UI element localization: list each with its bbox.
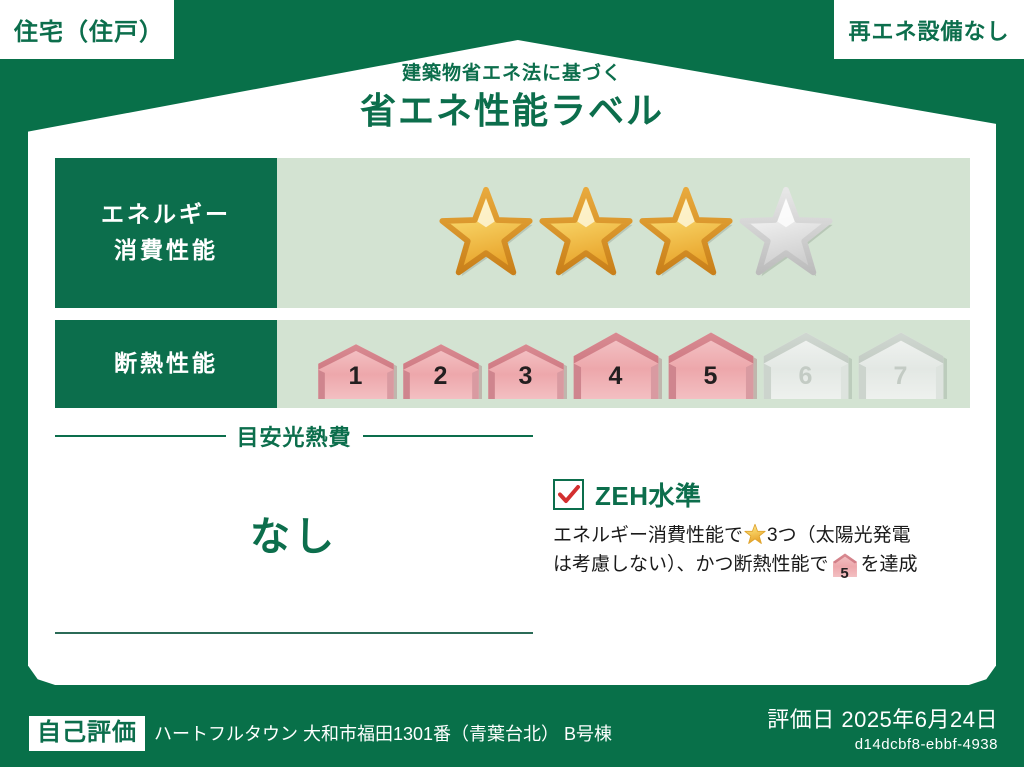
energy-performance-label: 住宅（住戸） 再エネ設備なし 建築物省エネ法に基づく 省エネ性能ラベル エネルギ… <box>0 0 1024 767</box>
insulation-level-2: 2 <box>400 343 482 399</box>
building-type-tag: 住宅（住戸） <box>0 0 174 59</box>
building-type-tag-label: 住宅（住戸） <box>14 12 164 47</box>
insulation-level-5: 5 <box>665 331 757 399</box>
star-icon-4 <box>738 185 834 281</box>
energy-consumption-label: エネルギー 消費性能 <box>55 158 277 308</box>
star-icon-1 <box>438 185 534 281</box>
energy-consumption-panel <box>277 158 970 308</box>
insulation-level-scale: 1234567 <box>301 320 947 408</box>
star-icon-2 <box>538 185 634 281</box>
energy-consumption-row: エネルギー 消費性能 <box>55 158 970 308</box>
zeh-description: エネルギー消費性能で 3つ（太陽光発電 は考慮しない）、かつ断熱性能で 5 を達… <box>553 521 973 587</box>
star-rating <box>414 185 834 281</box>
self-evaluation-badge: 自己評価 <box>29 716 145 751</box>
heading-rule-right <box>363 435 534 437</box>
renewable-energy-tag: 再エネ設備なし <box>834 0 1024 59</box>
zeh-title-row: ZEH水準 <box>553 476 973 513</box>
energy-consumption-label-line2: 消費性能 <box>114 233 218 269</box>
house-icon-3 <box>485 343 567 399</box>
utility-cost-heading-text: 目安光熱費 <box>237 420 352 452</box>
check-icon <box>558 485 580 504</box>
property-name: ハートフルタウン 大和市福田1301番（青葉台北） B号棟 <box>154 720 612 746</box>
heading-rule-left <box>55 435 226 437</box>
label-heading: 建築物省エネ法に基づく 省エネ性能ラベル <box>0 63 1024 133</box>
renewable-energy-tag-label: 再エネ設備なし <box>848 14 1009 46</box>
zeh-section: ZEH水準 エネルギー消費性能で 3つ（太陽光発電 は考慮しない）、かつ断熱性能… <box>553 476 973 587</box>
utility-cost-section: 目安光熱費 なし <box>55 420 533 562</box>
utility-cost-bottom-rule <box>55 632 533 634</box>
insulation-level-6: 6 <box>760 331 852 399</box>
insulation-level-4: 4 <box>570 331 662 399</box>
insulation-performance-row: 断熱性能 1234567 <box>55 320 970 408</box>
utility-cost-value: なし <box>55 504 533 562</box>
evaluation-id: d14dcbf8-ebbf-4938 <box>767 736 998 753</box>
footer-left: 自己評価 ハートフルタウン 大和市福田1301番（青葉台北） B号棟 <box>29 716 612 751</box>
insulation-level-3: 3 <box>485 343 567 399</box>
house-badge-inline: 5 <box>832 553 858 586</box>
house-badge-inline-num: 5 <box>832 562 858 585</box>
house-icon-1 <box>315 343 397 399</box>
energy-consumption-label-line1: エネルギー <box>101 197 231 233</box>
house-icon-4 <box>570 331 662 399</box>
heading-subtitle: 建築物省エネ法に基づく <box>0 63 1024 86</box>
star-icon-3 <box>638 185 734 281</box>
footer-right: 評価日 2025年6月24日 d14dcbf8-ebbf-4938 <box>767 702 998 753</box>
insulation-level-7: 7 <box>855 331 947 399</box>
zeh-title: ZEH水準 <box>595 476 702 513</box>
insulation-level-1: 1 <box>315 343 397 399</box>
insulation-performance-panel: 1234567 <box>277 320 970 408</box>
house-icon-5 <box>665 331 757 399</box>
house-icon-2 <box>400 343 482 399</box>
house-icon-7 <box>855 331 947 399</box>
zeh-desc-part3: を達成 <box>861 554 918 575</box>
utility-cost-heading: 目安光熱費 <box>55 420 533 452</box>
page-title: 省エネ性能ラベル <box>0 88 1024 133</box>
zeh-desc-star-count: 3つ（太陽光発電 <box>767 525 911 546</box>
evaluation-date: 評価日 2025年6月24日 <box>767 702 998 734</box>
insulation-performance-label-text: 断熱性能 <box>114 346 218 382</box>
zeh-desc-part1: エネルギー消費性能で <box>553 525 743 546</box>
zeh-checkbox[interactable] <box>553 479 584 510</box>
house-icon-6 <box>760 331 852 399</box>
zeh-desc-part2: は考慮しない）、かつ断熱性能で <box>553 554 829 575</box>
star-icon-inline <box>744 523 766 545</box>
insulation-performance-label: 断熱性能 <box>55 320 277 408</box>
